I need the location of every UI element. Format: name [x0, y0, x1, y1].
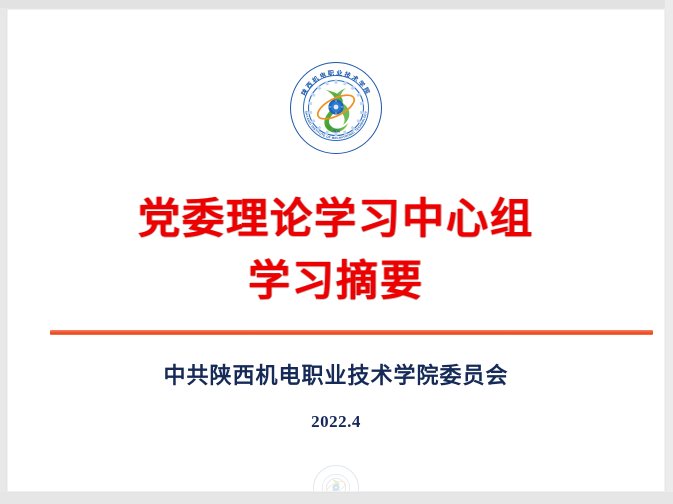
- university-logo: 陕西机电职业技术学院 SHAANXI INSTITUTE OF MECHATRO…: [8, 62, 664, 154]
- emblem-founded-year: 1956: [332, 129, 340, 134]
- window-chrome-bottom: [0, 492, 673, 504]
- title-block: 党委理论学习中心组 学习摘要: [8, 188, 664, 312]
- institution-name: 中共陕西机电职业技术学院委员会: [8, 362, 664, 392]
- slide-page: 陕西机电职业技术学院 SHAANXI INSTITUTE OF MECHATRO…: [7, 9, 665, 492]
- watermark-emblem: [313, 465, 359, 492]
- window-chrome-right: [665, 0, 673, 504]
- emblem-icon: 陕西机电职业技术学院 SHAANXI INSTITUTE OF MECHATRO…: [290, 62, 382, 154]
- divider-rule: [50, 330, 653, 335]
- emblem-watermark-icon: [313, 465, 359, 492]
- application-root: 陕西机电职业技术学院 SHAANXI INSTITUTE OF MECHATRO…: [0, 0, 673, 504]
- title-line-1: 党委理论学习中心组: [8, 188, 664, 250]
- date-label: 2022.4: [8, 411, 664, 433]
- emblem-artwork: 陕西机电职业技术学院 SHAANXI INSTITUTE OF MECHATRO…: [290, 62, 382, 154]
- title-line-2: 学习摘要: [8, 250, 664, 312]
- footer-block: 中共陕西机电职业技术学院委员会 2022.4: [8, 362, 664, 433]
- watermark-artwork: [313, 465, 359, 492]
- window-chrome-top: [0, 0, 673, 8]
